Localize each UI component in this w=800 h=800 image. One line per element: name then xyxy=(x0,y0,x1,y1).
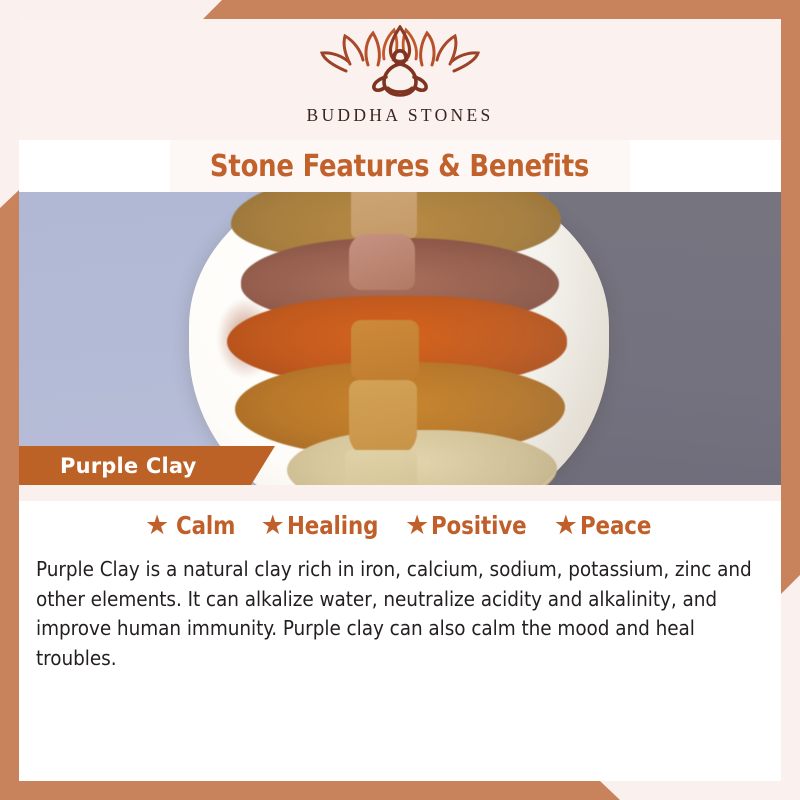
divider-strip xyxy=(19,485,781,501)
plate-shadow-overlay xyxy=(189,192,609,485)
stone-name-badge: Purple Clay xyxy=(19,446,275,485)
benefit-item-positive: ★ Positive xyxy=(405,511,532,540)
brand-logo-block: BUDDHA STONES xyxy=(307,25,494,126)
benefit-label: Calm xyxy=(176,511,235,540)
title-banner: Stone Features & Benefits xyxy=(170,140,630,192)
benefit-item-peace: ★ Peace xyxy=(554,511,655,540)
brand-name: BUDDHA STONES xyxy=(307,105,494,126)
star-icon: ★ xyxy=(145,512,169,539)
brand-header: BUDDHA STONES xyxy=(19,19,781,140)
stone-name-label: Purple Clay xyxy=(60,454,197,478)
clay-powder-plate-photo xyxy=(19,192,781,485)
star-icon: ★ xyxy=(405,512,429,539)
page-title: Stone Features & Benefits xyxy=(210,149,589,184)
frame-top-accent-bar xyxy=(0,0,800,19)
content-panel: ★ Calm ★ Healing ★ Positive ★ Peace Purp… xyxy=(19,501,781,781)
star-icon: ★ xyxy=(261,512,285,539)
frame-left-accent-bar xyxy=(0,0,19,800)
benefit-label: Healing xyxy=(287,511,378,540)
benefits-row: ★ Calm ★ Healing ★ Positive ★ Peace xyxy=(19,501,781,540)
benefit-label: Peace xyxy=(580,511,651,540)
benefit-item-calm: ★ Calm xyxy=(145,511,239,540)
frame-bottom-accent-bar xyxy=(0,781,800,800)
frame-right-accent-bar xyxy=(781,0,800,800)
lotus-meditation-icon xyxy=(316,25,484,103)
star-icon: ★ xyxy=(554,512,578,539)
benefit-item-healing: ★ Healing xyxy=(261,511,383,540)
stone-description: Purple Clay is a natural clay rich in ir… xyxy=(36,555,765,673)
benefit-label: Positive xyxy=(431,511,527,540)
